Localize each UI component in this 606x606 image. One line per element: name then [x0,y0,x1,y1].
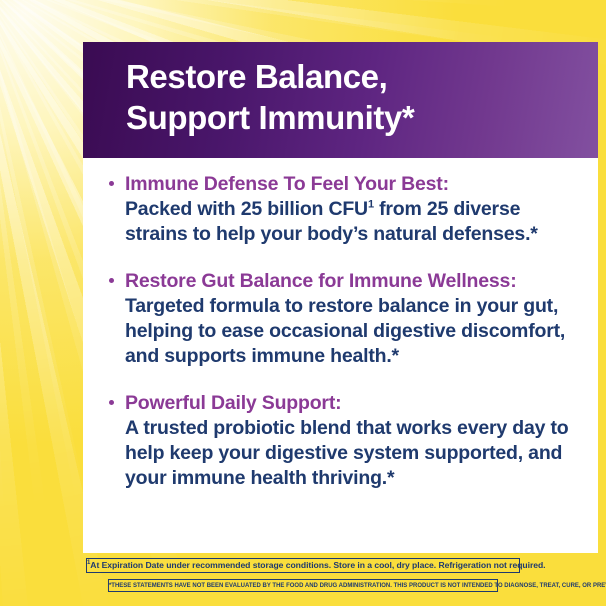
footnote-storage: 1At Expiration Date under recommended st… [86,558,520,573]
benefit-body: Packed with 25 billion CFU1 from 25 dive… [125,197,587,247]
benefits-list: Immune Defense To Feel Your Best: Packed… [107,172,587,513]
bullet-dot-icon [109,400,114,405]
bullet-dot-icon [109,181,114,186]
bullet-dot-icon [109,278,114,283]
list-item: Powerful Daily Support: A trusted probio… [107,391,587,491]
footnote-storage-text: At Expiration Date under recommended sto… [90,560,545,570]
page-title: Restore Balance, Support Immunity* [126,56,414,138]
list-item: Immune Defense To Feel Your Best: Packed… [107,172,587,247]
header-band: Restore Balance, Support Immunity* [83,42,598,158]
benefit-body-text-before: Packed with 25 billion CFU [125,198,368,220]
product-benefits-poster: Restore Balance, Support Immunity* Immun… [0,0,606,606]
benefit-body: A trusted probiotic blend that works eve… [125,416,587,491]
list-item: Restore Gut Balance for Immune Wellness:… [107,269,587,369]
benefit-heading: Restore Gut Balance for Immune Wellness: [125,269,587,294]
benefit-heading: Immune Defense To Feel Your Best: [125,172,587,197]
benefit-heading: Powerful Daily Support: [125,391,587,416]
footnote-fda-disclaimer: *THESE STATEMENTS HAVE NOT BEEN EVALUATE… [108,579,498,592]
content-card: Restore Balance, Support Immunity* Immun… [83,42,598,553]
benefit-body: Targeted formula to restore balance in y… [125,294,587,369]
